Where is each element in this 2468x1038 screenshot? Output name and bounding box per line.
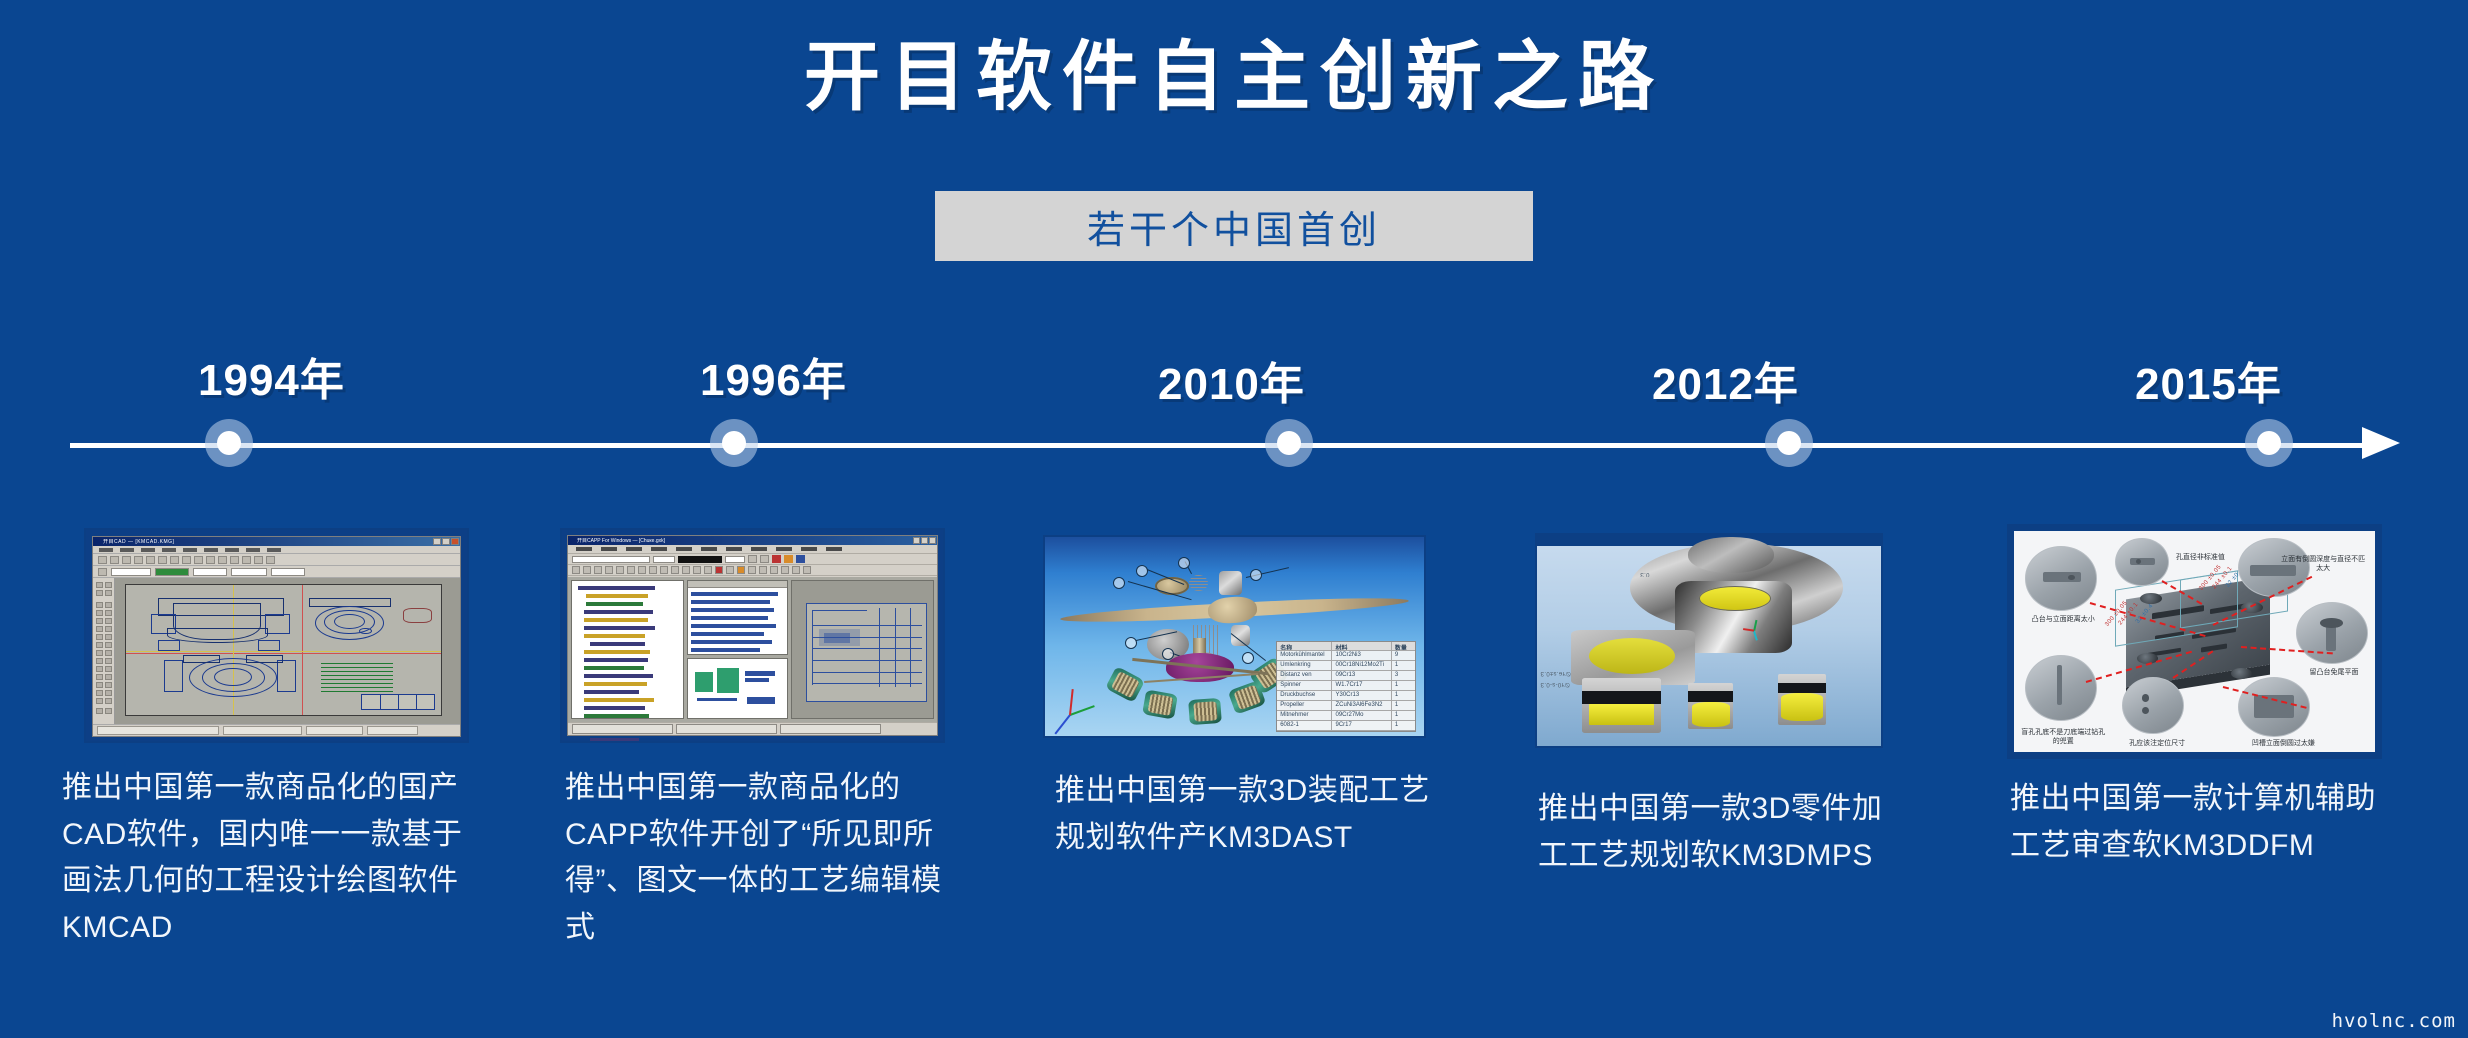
km3ddfm-render: 300 ±0.05 244 ±0.1 32 ±0.4 300 ±0.05 244… (2007, 524, 2382, 759)
callout-label: 盲孔孔底不是刀底端过钻孔的兜置 (2021, 728, 2105, 746)
milestone-caption-2015: 推出中国第一款计算机辅助工艺审查软KM3DDFM (2010, 776, 2390, 869)
page-title: 开目软件自主创新之路 (0, 34, 2468, 121)
milestone-caption-2010: 推出中国第一款3D装配工艺规划软件产KM3DAST (1055, 768, 1435, 861)
detail-bubble (2025, 655, 2097, 721)
callout-number (1178, 557, 1190, 569)
timeline-dot-2015 (2245, 419, 2293, 467)
timeline-dot-2012 (1765, 419, 1813, 467)
timeline-dot-1994 (205, 419, 253, 467)
kmcad-screenshot: 开目CAD — [KMCAD.KMG] (84, 528, 469, 743)
callout-number (1250, 569, 1262, 581)
timeline-axis (70, 440, 2400, 450)
table-row: 6082-19Cr171 (1277, 721, 1415, 731)
year-label-1994: 1994年 (198, 344, 345, 408)
axis-triad-icon (1056, 670, 1114, 728)
dimension-text: Ɛ.0 (1640, 571, 1650, 577)
capp-preview-pane (687, 658, 789, 719)
machining-face-slot-mid (1692, 702, 1730, 727)
radial-engine-assembly (1106, 648, 1296, 732)
milestone-caption-1994: 推出中国第一款商品化的国产CAD软件，国内唯一一款基于画法几何的工程设计绘图软件… (62, 765, 482, 951)
callout-label: 孔直径非标准值 (2158, 553, 2242, 562)
machining-face-flat (1589, 638, 1675, 674)
capp-attribute-list (687, 580, 789, 655)
capp-product-tree (571, 580, 684, 719)
callout-number (1113, 577, 1125, 589)
timeline-arrow-icon (2362, 427, 2400, 459)
machining-face-bore (1699, 586, 1771, 611)
kmcad-window-title: 开目CAD — [KMCAD.KMG] (93, 538, 433, 545)
table-row: Mitnehmer09Cr27Mo1 (1277, 711, 1415, 721)
timeline-dot-1996 (710, 419, 758, 467)
milestone-caption-2012: 推出中国第一款3D零件加工工艺规划软KM3DMPS (1538, 786, 1908, 879)
table-row: Umlenkring00Cr18Ni12Mo2Ti1 (1277, 661, 1415, 671)
subtitle-banner: 若干个中国首创 (935, 191, 1533, 261)
callout-number (1125, 637, 1137, 649)
mold-hole (2231, 668, 2253, 679)
callout-label: 立面有倒圆深度与直径不匹太大 (2281, 555, 2365, 573)
year-label-1996: 1996年 (700, 344, 847, 408)
callout-label: 留凸台免尾平面 (2292, 668, 2376, 677)
subtitle-text: 若干个中国首创 (1087, 199, 1381, 254)
dimension-text: Ɛ.0-ƨ-0٢∅ (1540, 681, 1570, 688)
year-label-2010: 2010年 (1158, 348, 1305, 412)
axis-triad-icon (1743, 619, 1769, 641)
callout-label: 凸台与立面距离太小 (2021, 615, 2105, 624)
kmcapp-window-title: 开目CAPP For Windows — [Chuке.gxk] (568, 537, 913, 544)
detail-bubble (2122, 677, 2183, 734)
km3dmps-render: Ɛ.0±ƨ.ǝ٢∅ Ɛ.0-ƨ-0٢∅ Ɛ.0 (1535, 533, 1883, 748)
propeller-hub (1207, 595, 1258, 624)
table-header-row: 名称材料数量 (1277, 642, 1415, 652)
callout-number (1136, 565, 1148, 577)
machining-face-slot-left (1589, 704, 1654, 725)
table-row: Distanz ven09Cr133 (1277, 671, 1415, 681)
milestone-caption-1996: 推出中国第一款商品化的CAPP软件开创了“所见即所得”、图文一体的工艺编辑模式 (565, 765, 945, 951)
washer-stack (1189, 575, 1208, 591)
km3dast-parts-table: 名称材料数量 Motorkühlmantel10Cr2Ni39 Umlenkri… (1276, 641, 1416, 733)
dimension-text: Ɛ.0±ƨ.ǝ٢∅ (1540, 670, 1571, 677)
watermark: hvolnc.com (2332, 1010, 2456, 1032)
timeline-line (70, 443, 2362, 448)
machining-face-slot-right (1781, 693, 1822, 720)
callout-label: 孔应该注定位尺寸 (2115, 739, 2199, 748)
detail-bubble (2025, 546, 2097, 610)
year-label-2015: 2015年 (2135, 348, 2282, 412)
year-label-2012: 2012年 (1652, 348, 1799, 412)
table-row: Motorkühlmantel10Cr2Ni39 (1277, 651, 1415, 661)
part-boss (1688, 537, 1774, 573)
km3dast-render: 名称材料数量 Motorkühlmantel10Cr2Ni39 Umlenkri… (1043, 535, 1426, 738)
table-row: DruckbuchseY30Cr131 (1277, 691, 1415, 701)
callout-label: 凹槽立面倒圆过太嫌 (2241, 739, 2325, 748)
table-row: PropellerZCuNi3Al6Fe3N21 (1277, 701, 1415, 711)
timeline-dot-2010 (1265, 419, 1313, 467)
table-row: SpinnerW1.7Cr171 (1277, 681, 1415, 691)
capp-process-card (791, 580, 934, 719)
kmcapp-screenshot: 开目CAPP For Windows — [Chuке.gxk] (560, 528, 945, 743)
spinner-cap (1219, 571, 1242, 595)
